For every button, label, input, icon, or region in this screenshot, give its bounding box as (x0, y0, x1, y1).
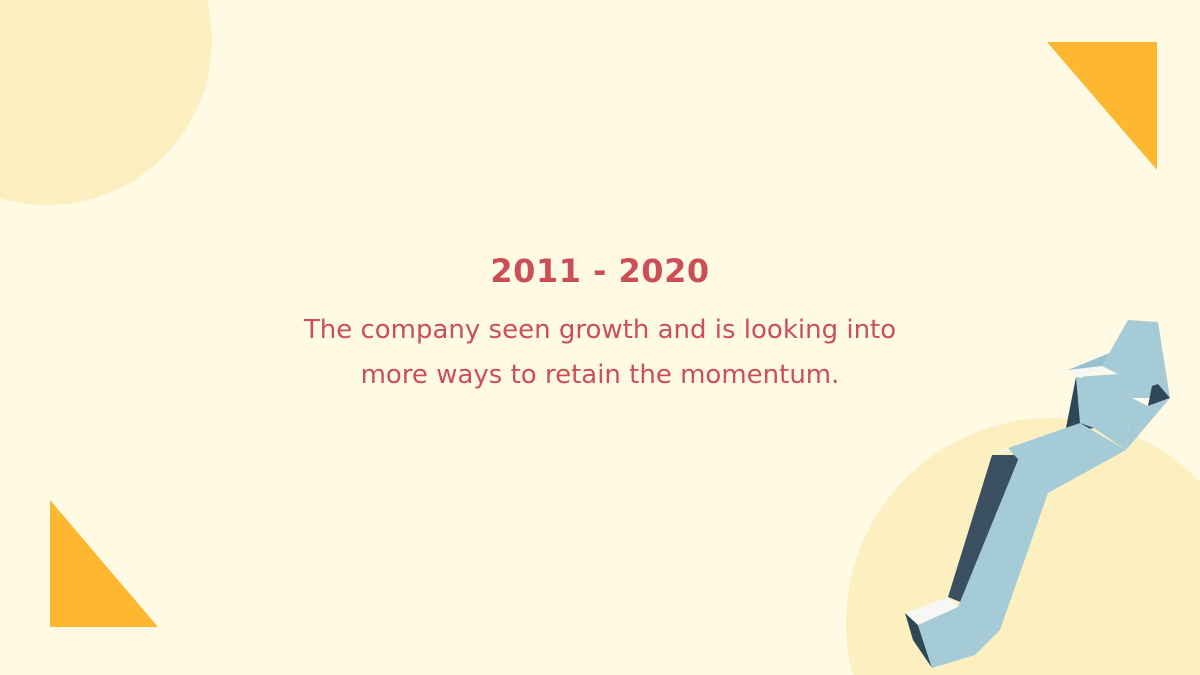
slide-body: The company seen growth and is looking i… (270, 308, 930, 397)
circle-top-left-decoration (0, 0, 212, 205)
slide-body-line-2: more ways to retain the momentum. (270, 353, 930, 398)
slide-canvas: 2011 - 2020 The company seen growth and … (0, 0, 1200, 675)
slide-body-line-1: The company seen growth and is looking i… (270, 308, 930, 353)
arrow-head-under-face (1126, 398, 1170, 450)
slide-text-block: 2011 - 2020 The company seen growth and … (0, 252, 1200, 398)
triangle-bottom-left-decoration (50, 500, 158, 627)
triangle-top-right-decoration (1047, 42, 1157, 170)
slide-title: 2011 - 2020 (0, 252, 1200, 290)
